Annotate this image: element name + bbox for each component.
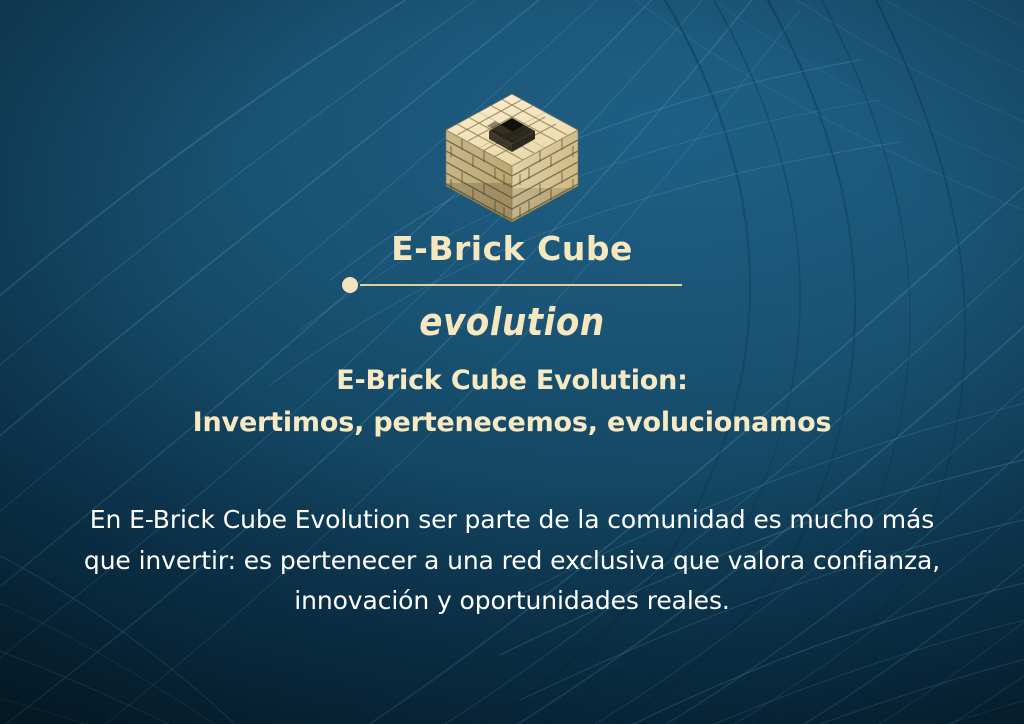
body-line-2: que invertir: es pertenecer a una red ex… bbox=[72, 541, 952, 582]
logo-wordmark: E-Brick Cube bbox=[391, 232, 633, 265]
logo-divider bbox=[342, 274, 682, 296]
divider-dot-icon bbox=[342, 277, 358, 293]
headline: E-Brick Cube Evolution: Invertimos, pert… bbox=[0, 360, 1024, 444]
divider-line bbox=[360, 284, 682, 286]
logo-lockup: E-Brick Cube evolution bbox=[0, 88, 1024, 341]
body-line-3: innovación y oportunidades reales. bbox=[72, 581, 952, 622]
presentation-slide: E-Brick Cube evolution E-Brick Cube Evol… bbox=[0, 0, 1024, 724]
logo-tagline: evolution bbox=[419, 303, 604, 341]
brick-cube-icon bbox=[432, 88, 592, 228]
headline-line-1: E-Brick Cube Evolution: bbox=[0, 360, 1024, 402]
body-line-1: En E-Brick Cube Evolution ser parte de l… bbox=[72, 500, 952, 541]
headline-line-2: Invertimos, pertenecemos, evolucionamos bbox=[0, 402, 1024, 444]
body-copy: En E-Brick Cube Evolution ser parte de l… bbox=[72, 500, 952, 622]
